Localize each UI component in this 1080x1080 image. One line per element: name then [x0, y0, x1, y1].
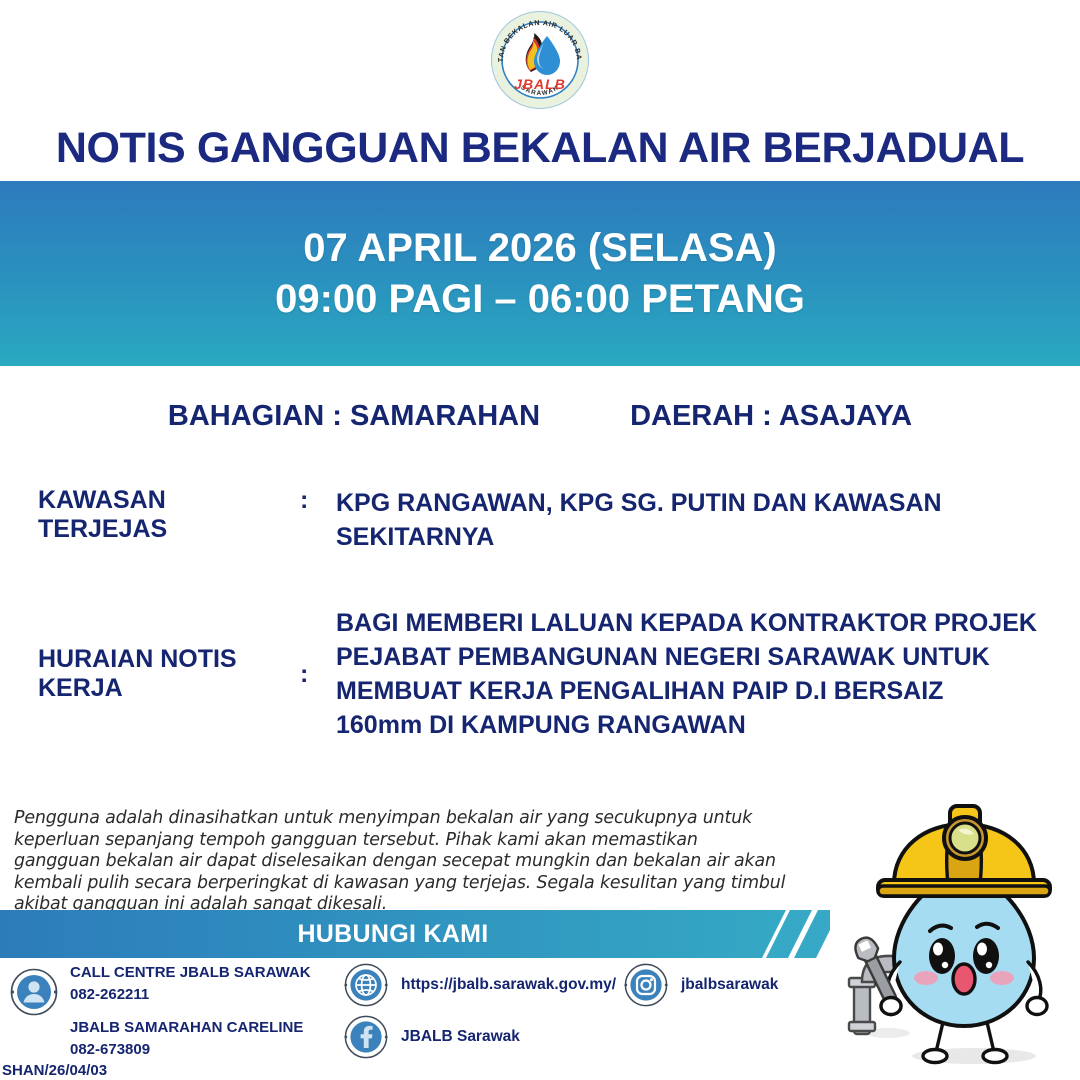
water-disruption-notice-poster: JABATAN BEKALAN AIR LUAR BANDAR SARAWAK …: [0, 0, 1080, 1080]
advisory-paragraph: Pengguna adalah dinasihatkan untuk menyi…: [14, 808, 786, 916]
mascot-container: [838, 786, 1080, 1080]
globe-icon: [344, 963, 388, 1007]
notice-time: 09:00 PAGI – 06:00 PETANG: [275, 277, 805, 322]
careline-phone[interactable]: 082-673809: [70, 1039, 303, 1061]
call-centre-lines: CALL CENTRE JBALB SARAWAK 082-262211: [70, 962, 311, 1006]
work-description-line: BAGI MEMBERI LALUAN KEPADA KONTRAKTOR PR…: [336, 606, 1037, 640]
work-description-row: HURAIAN NOTIS KERJA : BAGI MEMBERI LALUA…: [0, 606, 1080, 742]
work-description-value: BAGI MEMBERI LALUAN KEPADA KONTRAKTOR PR…: [336, 606, 1037, 742]
careline-name: JBALB SAMARAHAN CARELINE: [70, 1017, 303, 1039]
work-description-line: PEJABAT PEMBANGUNAN NEGERI SARAWAK UNTUK: [336, 640, 1037, 674]
facebook-label: JBALB Sarawak: [401, 1028, 520, 1046]
affected-areas-row: KAWASAN TERJEJAS : KPG RANGAWAN, KPG SG.…: [0, 486, 1080, 554]
instagram-icon: [624, 963, 668, 1007]
careline-block: JBALB SAMARAHAN CARELINE 082-673809: [70, 1017, 303, 1061]
facebook-link[interactable]: JBALB Sarawak: [344, 1015, 520, 1059]
location-row: BAHAGIAN : SAMARAHAN DAERAH : ASAJAYA: [0, 400, 1080, 433]
affected-areas-line: SEKITARNYA: [336, 520, 942, 554]
call-centre-name: CALL CENTRE JBALB SARAWAK: [70, 962, 311, 984]
affected-areas-line: KPG RANGAWAN, KPG SG. PUTIN DAN KAWASAN: [336, 486, 942, 520]
person-icon: [10, 968, 58, 1016]
jbalb-seal-icon: JABATAN BEKALAN AIR LUAR BANDAR SARAWAK …: [490, 10, 590, 110]
work-description-line: 160mm DI KAMPUNG RANGAWAN: [336, 708, 1037, 742]
facebook-icon: [344, 1015, 388, 1059]
website-link[interactable]: https://jbalb.sarawak.gov.my/: [344, 963, 616, 1007]
contact-banner-label: HUBUNGI KAMI: [0, 910, 786, 958]
notice-date: 07 APRIL 2026 (SELASA): [303, 226, 777, 271]
work-description-colon: :: [300, 606, 336, 742]
hard-hat-icon: [878, 806, 1050, 896]
water-droplet-mascot-icon: [838, 786, 1080, 1080]
work-description-label: HURAIAN NOTIS KERJA: [0, 606, 300, 742]
affected-areas-label: KAWASAN TERJEJAS: [0, 486, 300, 520]
svg-text:JBALB: JBALB: [514, 76, 566, 92]
instagram-link[interactable]: jbalbsarawak: [624, 963, 778, 1007]
district-text: DAERAH : ASAJAYA: [630, 400, 912, 433]
affected-areas-colon: :: [300, 486, 336, 520]
work-description-line: MEMBUAT KERJA PENGALIHAN PAIP D.I BERSAI…: [336, 674, 1037, 708]
date-time-banner: 07 APRIL 2026 (SELASA) 09:00 PAGI – 06:0…: [0, 181, 1080, 366]
call-centre-phone[interactable]: 082-262211: [70, 984, 311, 1006]
instagram-label: jbalbsarawak: [681, 976, 778, 994]
page-title: NOTIS GANGGUAN BEKALAN AIR BERJADUAL: [0, 124, 1080, 173]
reference-code: SHAN/26/04/03: [2, 1062, 107, 1079]
division-text: BAHAGIAN : SAMARAHAN: [168, 400, 540, 433]
logo-container: JABATAN BEKALAN AIR LUAR BANDAR SARAWAK …: [0, 6, 1080, 114]
website-label: https://jbalb.sarawak.gov.my/: [401, 976, 616, 994]
call-centre-block: CALL CENTRE JBALB SARAWAK 082-262211: [10, 962, 311, 1016]
affected-areas-value: KPG RANGAWAN, KPG SG. PUTIN DAN KAWASAN …: [336, 486, 942, 554]
